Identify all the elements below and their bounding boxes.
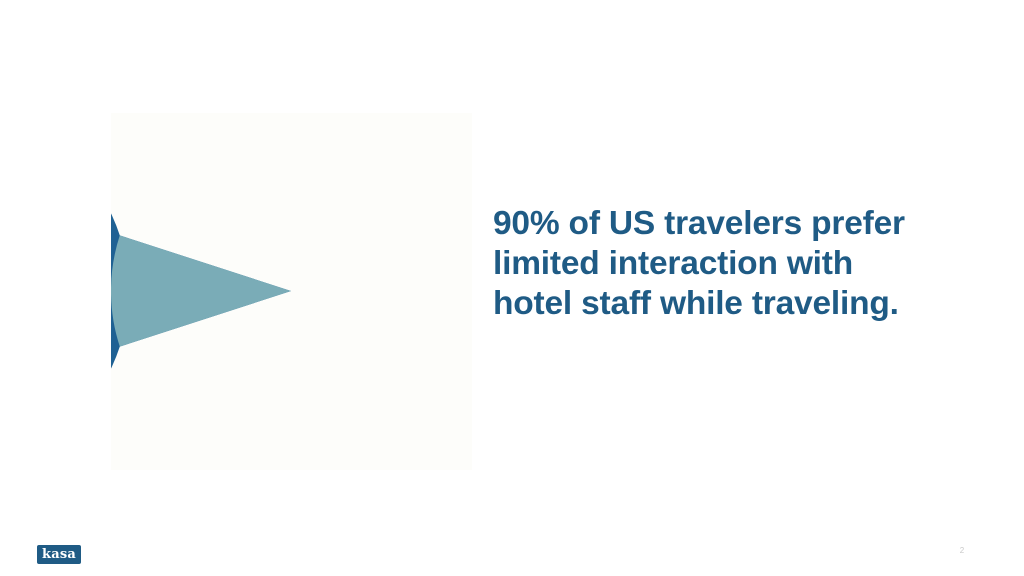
page-title: 90% of US travelers prefer limited inter… (493, 204, 953, 324)
pie-slice-minor (111, 235, 291, 346)
slide-canvas: 90% of US travelers prefer limited inter… (0, 0, 1024, 576)
pie-chart (111, 113, 472, 470)
kasa-logo: kasa (37, 545, 81, 564)
headline-line-2: limited interaction with (493, 244, 953, 284)
pie-chart-svg (111, 113, 472, 470)
pie-chart-panel (111, 113, 472, 470)
headline-line-3: hotel staff while traveling. (493, 284, 953, 324)
page-number: 2 (952, 546, 972, 556)
kasa-logo-text: kasa (42, 548, 76, 561)
headline-line-1: 90% of US travelers prefer (493, 204, 953, 244)
